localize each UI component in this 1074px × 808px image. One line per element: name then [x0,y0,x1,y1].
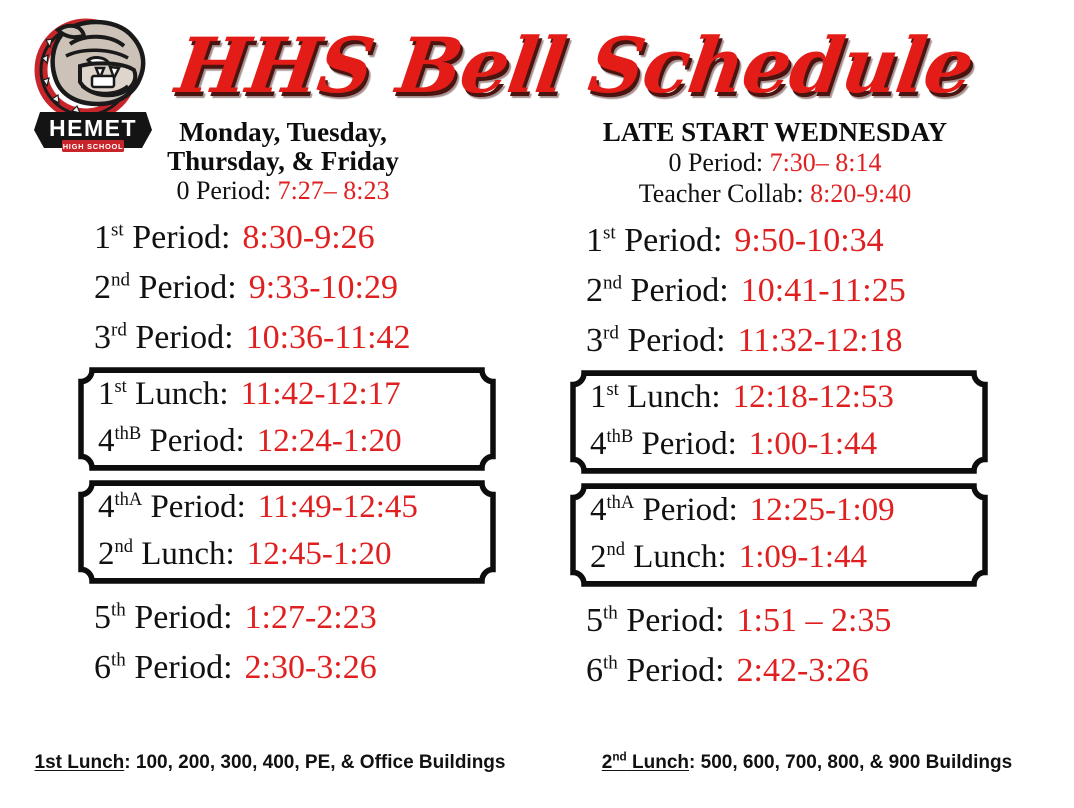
lunch-ordinal: 1 [98,376,115,412]
second-lunch-group-box: 4thA Period:12:25-1:09 2nd Lunch:1:09-1:… [570,483,988,587]
column-heading-line-1: LATE START WEDNESDAY [540,118,1010,147]
period-time: 9:50-10:34 [734,222,883,259]
lunch-ordinal-suffix: thB [607,426,634,446]
period-ordinal: 3 [586,322,603,359]
footer-rest: : 500, 600, 700, 800, & 900 Buildings [689,752,1012,773]
period-ordinal: 2 [586,272,603,309]
period-rows-before-lunch: 1st Period:8:30-9:26 2nd Period:9:33-10:… [48,213,518,363]
period-time: 2:30-3:26 [245,649,377,686]
period-ordinal-suffix: th [111,650,126,671]
lunch-ordinal-suffix: st [607,379,619,399]
lunch-label: Period: [642,492,737,528]
subrow-label: Teacher Collab: [639,179,804,208]
lunch-time: 1:09-1:44 [739,539,867,575]
first-lunch-group-box: 1st Lunch:11:42-12:17 4thB Period:12:24-… [78,367,496,471]
period-ordinal: 1 [94,219,111,256]
footer: 1st Lunch: 100, 200, 300, 400, PE, & Off… [0,752,1074,774]
period-ordinal: 6 [586,652,603,689]
lunch-ordinal: 4 [590,492,607,528]
period-rows-after-lunch: 5th Period:1:51 – 2:35 6th Period:2:42-3… [540,596,1010,696]
lunch-ordinal: 2 [590,539,607,575]
footer-note-second-lunch: 2nd Lunch: 500, 600, 700, 800, & 900 Bui… [540,752,1074,774]
lunch-ordinal-suffix: thB [115,423,142,443]
lunch-row: 1st Lunch:11:42-12:17 [94,371,496,418]
column-subrow: 0 Period: 7:27– 8:23 [48,175,518,207]
footer-word: Lunch [67,752,124,773]
lunch-row: 1st Lunch:12:18-12:53 [586,374,988,421]
subrow-time: 7:30– 8:14 [770,148,882,177]
column-subrow: Teacher Collab: 8:20-9:40 [540,178,1010,210]
lunch-label: Period: [641,426,736,462]
period-label: Period: [139,269,237,306]
footer-rest: : 100, 200, 300, 400, PE, & Office Build… [124,752,505,773]
lunch-time: 12:25-1:09 [750,492,895,528]
lunch-row: 2nd Lunch:12:45-1:20 [94,531,496,578]
lunch-time: 12:24-1:20 [257,423,402,459]
period-ordinal-suffix: rd [111,320,127,341]
footer-note-first-lunch: 1st Lunch: 100, 200, 300, 400, PE, & Off… [0,752,540,774]
period-ordinal: 1 [586,222,603,259]
period-label: Period: [624,222,722,259]
subrow-time: 7:27– 8:23 [278,176,390,205]
lunch-label: Lunch: [633,539,726,575]
schedule-column-late-start-wednesday: LATE START WEDNESDAY 0 Period: 7:30– 8:1… [540,118,1010,696]
period-rows-after-lunch: 5th Period:1:27-2:23 6th Period:2:30-3:2… [48,593,518,693]
period-row: 2nd Period:9:33-10:29 [48,263,518,313]
period-time: 1:51 – 2:35 [737,602,892,639]
period-row: 5th Period:1:51 – 2:35 [540,596,1010,646]
lunch-label: Lunch: [135,376,228,412]
lunch-row: 4thB Period:12:24-1:20 [94,418,496,465]
period-label: Period: [134,599,232,636]
period-label: Period: [134,649,232,686]
period-ordinal-suffix: nd [111,270,130,291]
column-heading-line-2: Thursday, & Friday [48,147,518,176]
lunch-ordinal: 2 [98,536,115,572]
period-ordinal: 6 [94,649,111,686]
footer-ordinal-suffix: nd [612,751,626,764]
period-time: 10:41-11:25 [741,272,906,309]
period-label: Period: [626,652,724,689]
lunch-ordinal: 1 [590,379,607,415]
column-heading-line-1: Monday, Tuesday, [48,118,518,147]
lunch-ordinal: 4 [98,423,115,459]
subrow-label: 0 Period: [176,176,271,205]
period-ordinal-suffix: th [603,603,618,624]
lunch-time: 11:42-12:17 [241,376,401,412]
lunch-ordinal-suffix: thA [115,489,143,509]
second-lunch-group-box: 4thA Period:11:49-12:45 2nd Lunch:12:45-… [78,480,496,584]
lunch-time: 11:49-12:45 [258,489,418,525]
period-row: 3rd Period:11:32-12:18 [540,316,1010,366]
period-time: 9:33-10:29 [249,269,398,306]
lunch-time: 12:45-1:20 [247,536,392,572]
period-ordinal-suffix: th [111,600,126,621]
lunch-ordinal-suffix: thA [607,492,635,512]
period-label: Period: [132,219,230,256]
lunch-row: 2nd Lunch:1:09-1:44 [586,534,988,581]
lunch-ordinal-suffix: nd [607,539,625,559]
period-row: 6th Period:2:42-3:26 [540,646,1010,696]
period-row: 1st Period:8:30-9:26 [48,213,518,263]
lunch-row: 4thA Period:11:49-12:45 [94,484,496,531]
period-label: Period: [631,272,729,309]
column-subrow: 0 Period: 7:30– 8:14 [540,147,1010,179]
lunch-row: 4thB Period:1:00-1:44 [586,421,988,468]
period-label: Period: [627,322,725,359]
period-rows-before-lunch: 1st Period:9:50-10:34 2nd Period:10:41-1… [540,216,1010,366]
period-time: 2:42-3:26 [737,652,869,689]
footer-word: Lunch [632,752,689,773]
lunch-label: Lunch: [627,379,720,415]
period-time: 11:32-12:18 [738,322,903,359]
period-row: 1st Period:9:50-10:34 [540,216,1010,266]
period-time: 10:36-11:42 [246,319,411,356]
period-time: 8:30-9:26 [242,219,374,256]
period-row: 3rd Period:10:36-11:42 [48,313,518,363]
period-row: 2nd Period:10:41-11:25 [540,266,1010,316]
poster-title: HHS Bell Schedule [255,14,895,118]
poster-title-text: HHS Bell Schedule [172,28,978,104]
period-ordinal: 5 [94,599,111,636]
period-ordinal: 3 [94,319,111,356]
period-row: 6th Period:2:30-3:26 [48,643,518,693]
lunch-row: 4thA Period:12:25-1:09 [586,487,988,534]
period-label: Period: [626,602,724,639]
period-label: Period: [135,319,233,356]
lunch-label: Period: [150,489,245,525]
period-ordinal-suffix: nd [603,273,622,294]
lunch-label: Period: [149,423,244,459]
lunch-ordinal-suffix: st [115,376,127,396]
period-time: 1:27-2:23 [245,599,377,636]
period-ordinal-suffix: rd [603,323,619,344]
period-ordinal-suffix: th [603,653,618,674]
lunch-ordinal-suffix: nd [115,536,133,556]
period-ordinal-suffix: st [603,223,616,244]
period-ordinal: 5 [586,602,603,639]
period-ordinal-suffix: st [111,220,124,241]
schedule-column-regular: Monday, Tuesday, Thursday, & Friday 0 Pe… [48,118,518,693]
lunch-time: 1:00-1:44 [749,426,877,462]
lunch-label: Lunch: [141,536,234,572]
period-row: 5th Period:1:27-2:23 [48,593,518,643]
first-lunch-group-box: 1st Lunch:12:18-12:53 4thB Period:1:00-1… [570,370,988,474]
period-ordinal: 2 [94,269,111,306]
subrow-label: 0 Period: [668,148,763,177]
footer-ordinal: 2 [602,752,613,773]
lunch-time: 12:18-12:53 [733,379,894,415]
lunch-ordinal: 4 [590,426,607,462]
footer-ordinal: 1st [35,752,62,773]
lunch-ordinal: 4 [98,489,115,525]
subrow-time: 8:20-9:40 [810,179,911,208]
